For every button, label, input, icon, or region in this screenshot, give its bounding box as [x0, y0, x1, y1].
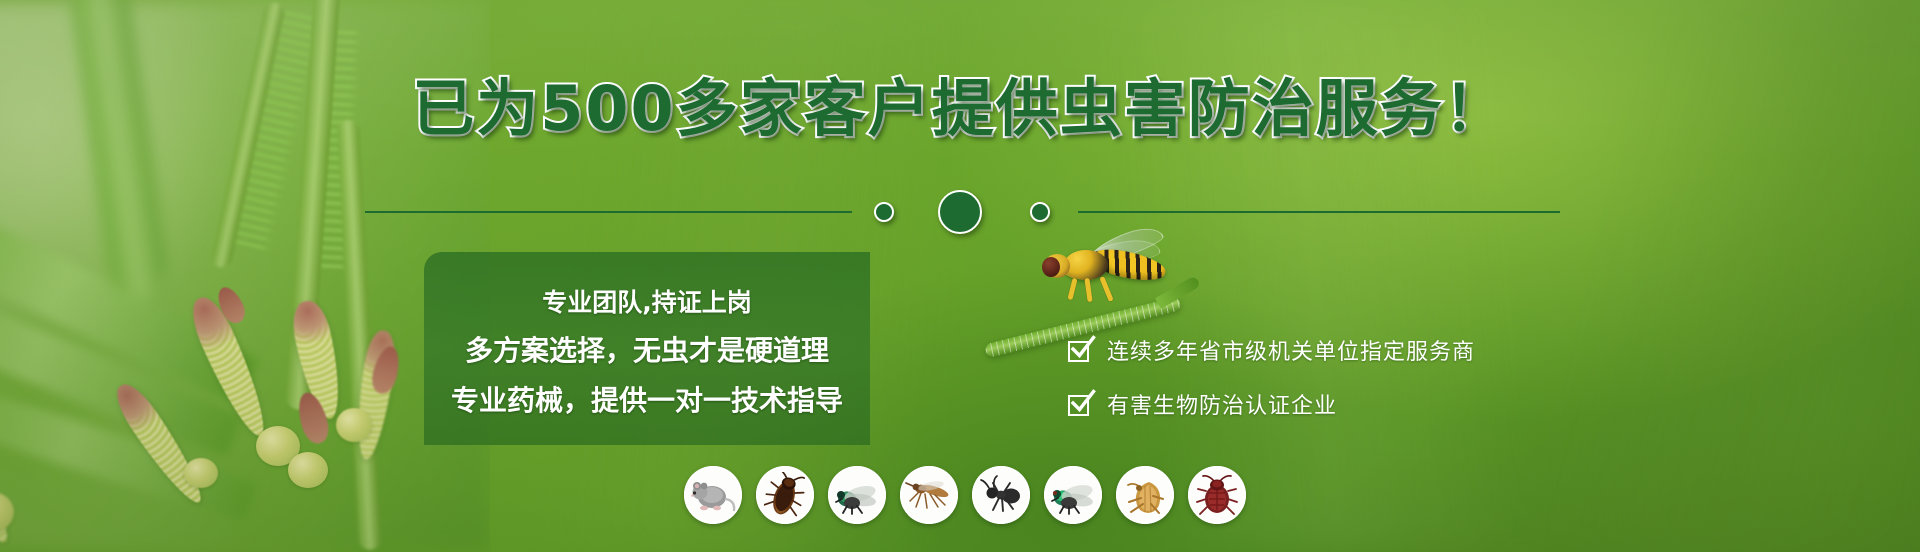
- pest-chip[interactable]: [1116, 466, 1174, 524]
- pest-chip[interactable]: [972, 466, 1030, 524]
- feature-line-3: 专业药械，提供一对一技术指导: [451, 379, 843, 419]
- dot-large-center-icon: [938, 190, 982, 234]
- divider-right: [1078, 211, 1560, 213]
- fly-icon: [833, 475, 881, 515]
- pest-chip[interactable]: [684, 466, 742, 524]
- decorative-dots: [860, 186, 1070, 238]
- credential-list: 连续多年省市级机关单位指定服务商 有害生物防治认证企业: [1068, 334, 1475, 420]
- hoverfly-leg: [1099, 276, 1113, 302]
- promo-banner: 已为500多家客户提供虫害防治服务！ 专业团队,持证上岗 多方案选择，无虫才是硬…: [0, 0, 1920, 552]
- rat-icon: [690, 475, 736, 515]
- credential-item: 连续多年省市级机关单位指定服务商: [1068, 334, 1475, 366]
- credential-label: 有害生物防治认证企业: [1107, 388, 1337, 420]
- headline-text: 已为500多家客户提供虫害防治服务！: [412, 72, 1507, 145]
- pest-chip[interactable]: [756, 466, 814, 524]
- pest-chip[interactable]: [900, 466, 958, 524]
- feature-line-1: 专业团队,持证上岗: [542, 283, 752, 319]
- credential-item: 有害生物防治认证企业: [1068, 388, 1475, 420]
- feature-panel: 专业团队,持证上岗 多方案选择，无虫才是硬道理 专业药械，提供一对一技术指导: [424, 252, 870, 445]
- pest-chip[interactable]: [1188, 466, 1246, 524]
- hoverfly-leg: [1084, 278, 1092, 302]
- hoverfly-eye: [1042, 257, 1060, 277]
- pest-icon-row: [684, 466, 1246, 524]
- blowfly-icon: [1049, 475, 1097, 515]
- credential-label: 连续多年省市级机关单位指定服务商: [1107, 334, 1475, 366]
- bedbug-icon: [1196, 473, 1238, 517]
- cockroach-icon: [764, 472, 806, 518]
- hoverfly-icon: [1042, 240, 1172, 302]
- checkbox-checked-icon: [1068, 392, 1093, 417]
- pest-chip[interactable]: [1044, 466, 1102, 524]
- hoverfly-thorax: [1064, 250, 1108, 280]
- dot-small-right-icon: [1030, 202, 1050, 222]
- flea-icon: [1123, 474, 1167, 516]
- dot-small-left-icon: [874, 202, 894, 222]
- hoverfly-leg: [1067, 278, 1077, 301]
- mosquito-icon: [905, 475, 953, 515]
- divider-left: [365, 211, 852, 213]
- feature-line-2: 多方案选择，无虫才是硬道理: [465, 329, 829, 369]
- ant-icon: [979, 474, 1023, 516]
- pest-chip[interactable]: [828, 466, 886, 524]
- headline: 已为500多家客户提供虫害防治服务！: [0, 78, 1920, 140]
- checkbox-checked-icon: [1068, 338, 1093, 363]
